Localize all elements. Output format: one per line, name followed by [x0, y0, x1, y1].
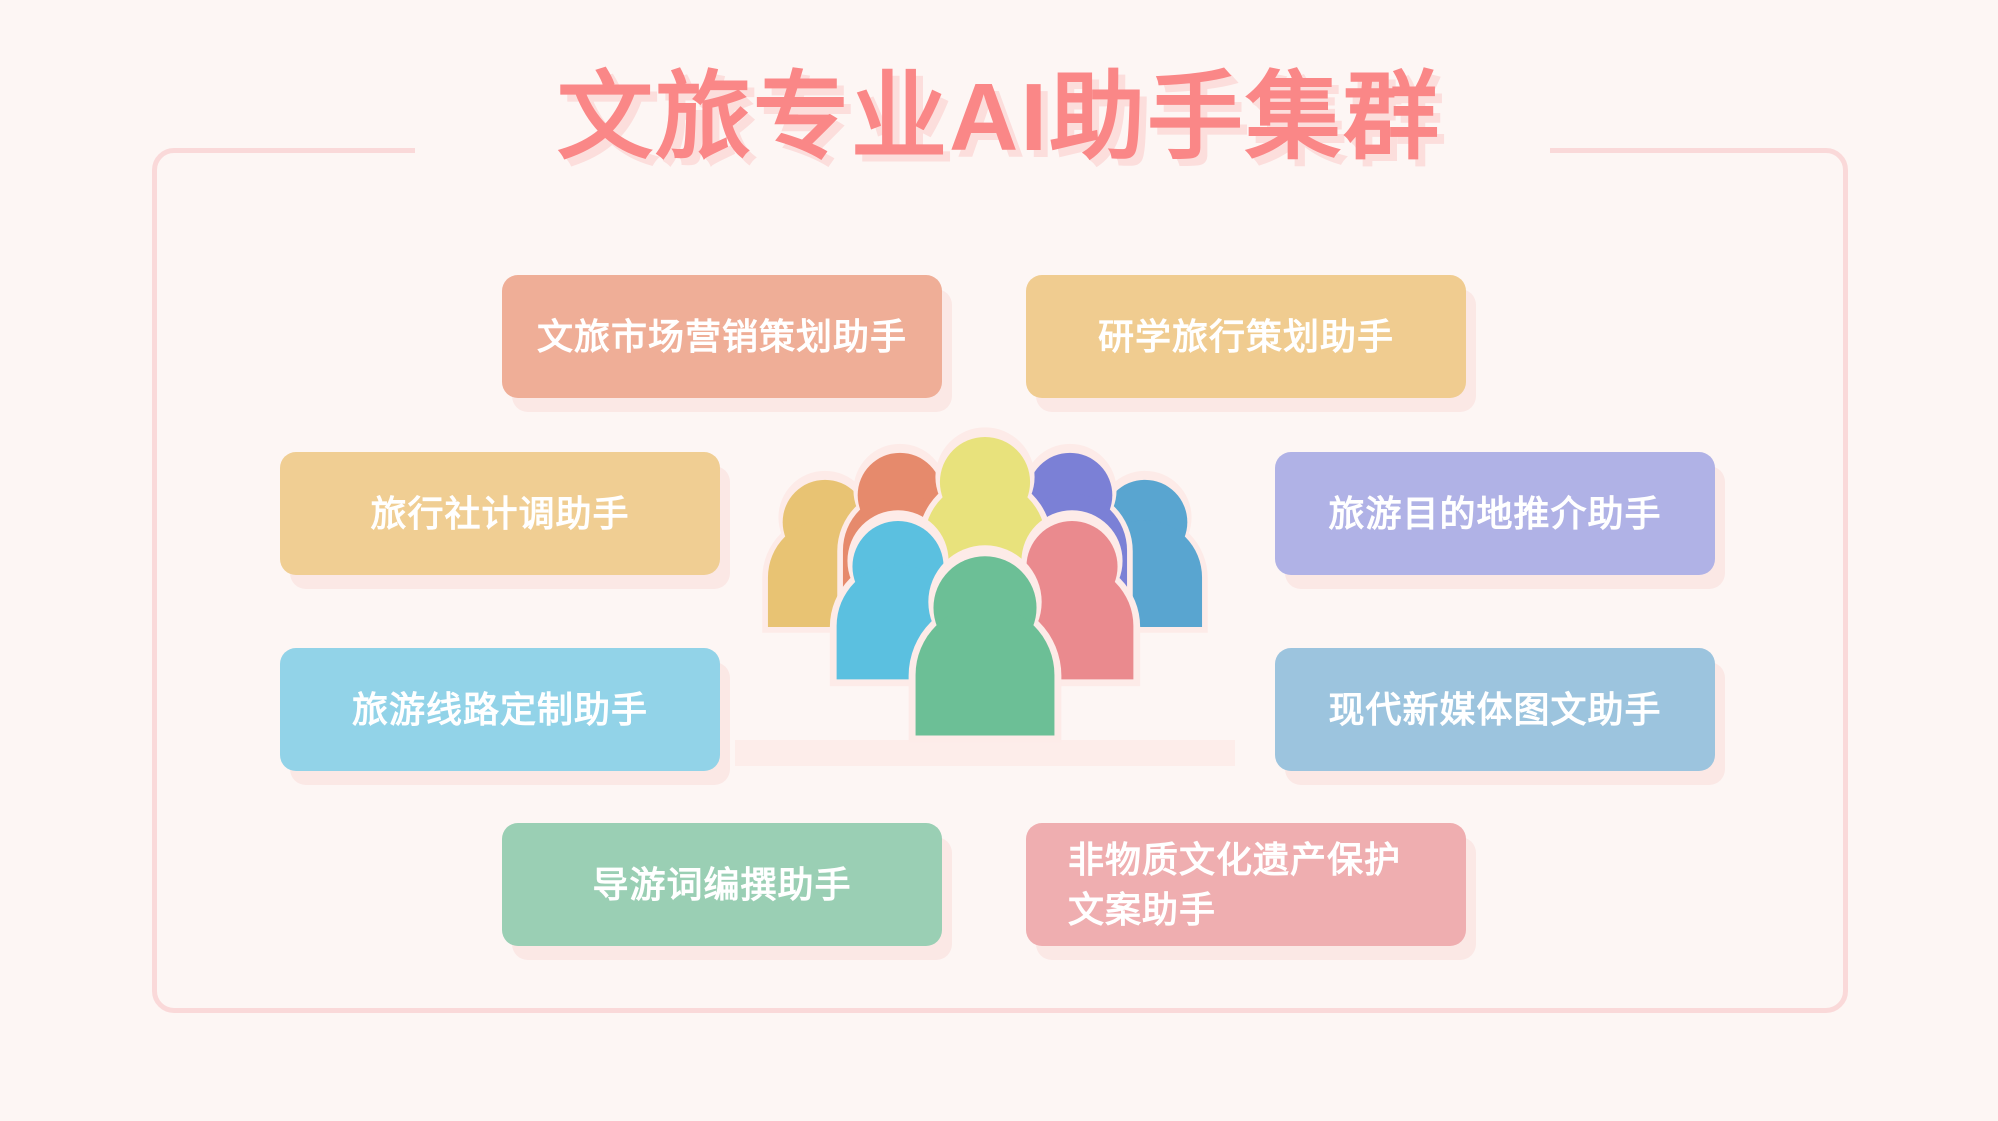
- assistant-card-destination[interactable]: 旅游目的地推介助手: [1275, 452, 1715, 575]
- assistant-card-label-line1: 非物质文化遗产保护: [1068, 835, 1401, 885]
- assistant-card-guide-script[interactable]: 导游词编撰助手: [502, 823, 942, 946]
- assistant-card-label: 导游词编撰助手: [592, 860, 851, 910]
- assistant-card-label: 现代新媒体图文助手: [1328, 685, 1661, 735]
- assistant-card-label-line2: 文案助手: [1068, 885, 1401, 935]
- assistant-card-label: 旅游目的地推介助手: [1328, 489, 1661, 539]
- assistant-card-agency-ops[interactable]: 旅行社计调助手: [280, 452, 720, 575]
- people-group-illustration: [735, 418, 1235, 788]
- assistant-card-marketing[interactable]: 文旅市场营销策划助手: [502, 275, 942, 398]
- assistant-card-label-multiline: 非物质文化遗产保护 文案助手: [1068, 835, 1401, 935]
- poster-canvas: 文旅专业AI助手集群: [0, 0, 1998, 1121]
- assistant-card-label: 旅游线路定制助手: [352, 685, 648, 735]
- assistant-card-label: 文旅市场营销策划助手: [537, 312, 907, 362]
- assistant-card-label: 旅行社计调助手: [370, 489, 629, 539]
- page-title: 文旅专业AI助手集群: [0, 62, 1998, 174]
- assistant-card-label: 研学旅行策划助手: [1098, 312, 1394, 362]
- assistant-card-heritage[interactable]: 非物质文化遗产保护 文案助手: [1026, 823, 1466, 946]
- assistant-card-new-media[interactable]: 现代新媒体图文助手: [1275, 648, 1715, 771]
- assistant-card-route[interactable]: 旅游线路定制助手: [280, 648, 720, 771]
- assistant-card-study-tour[interactable]: 研学旅行策划助手: [1026, 275, 1466, 398]
